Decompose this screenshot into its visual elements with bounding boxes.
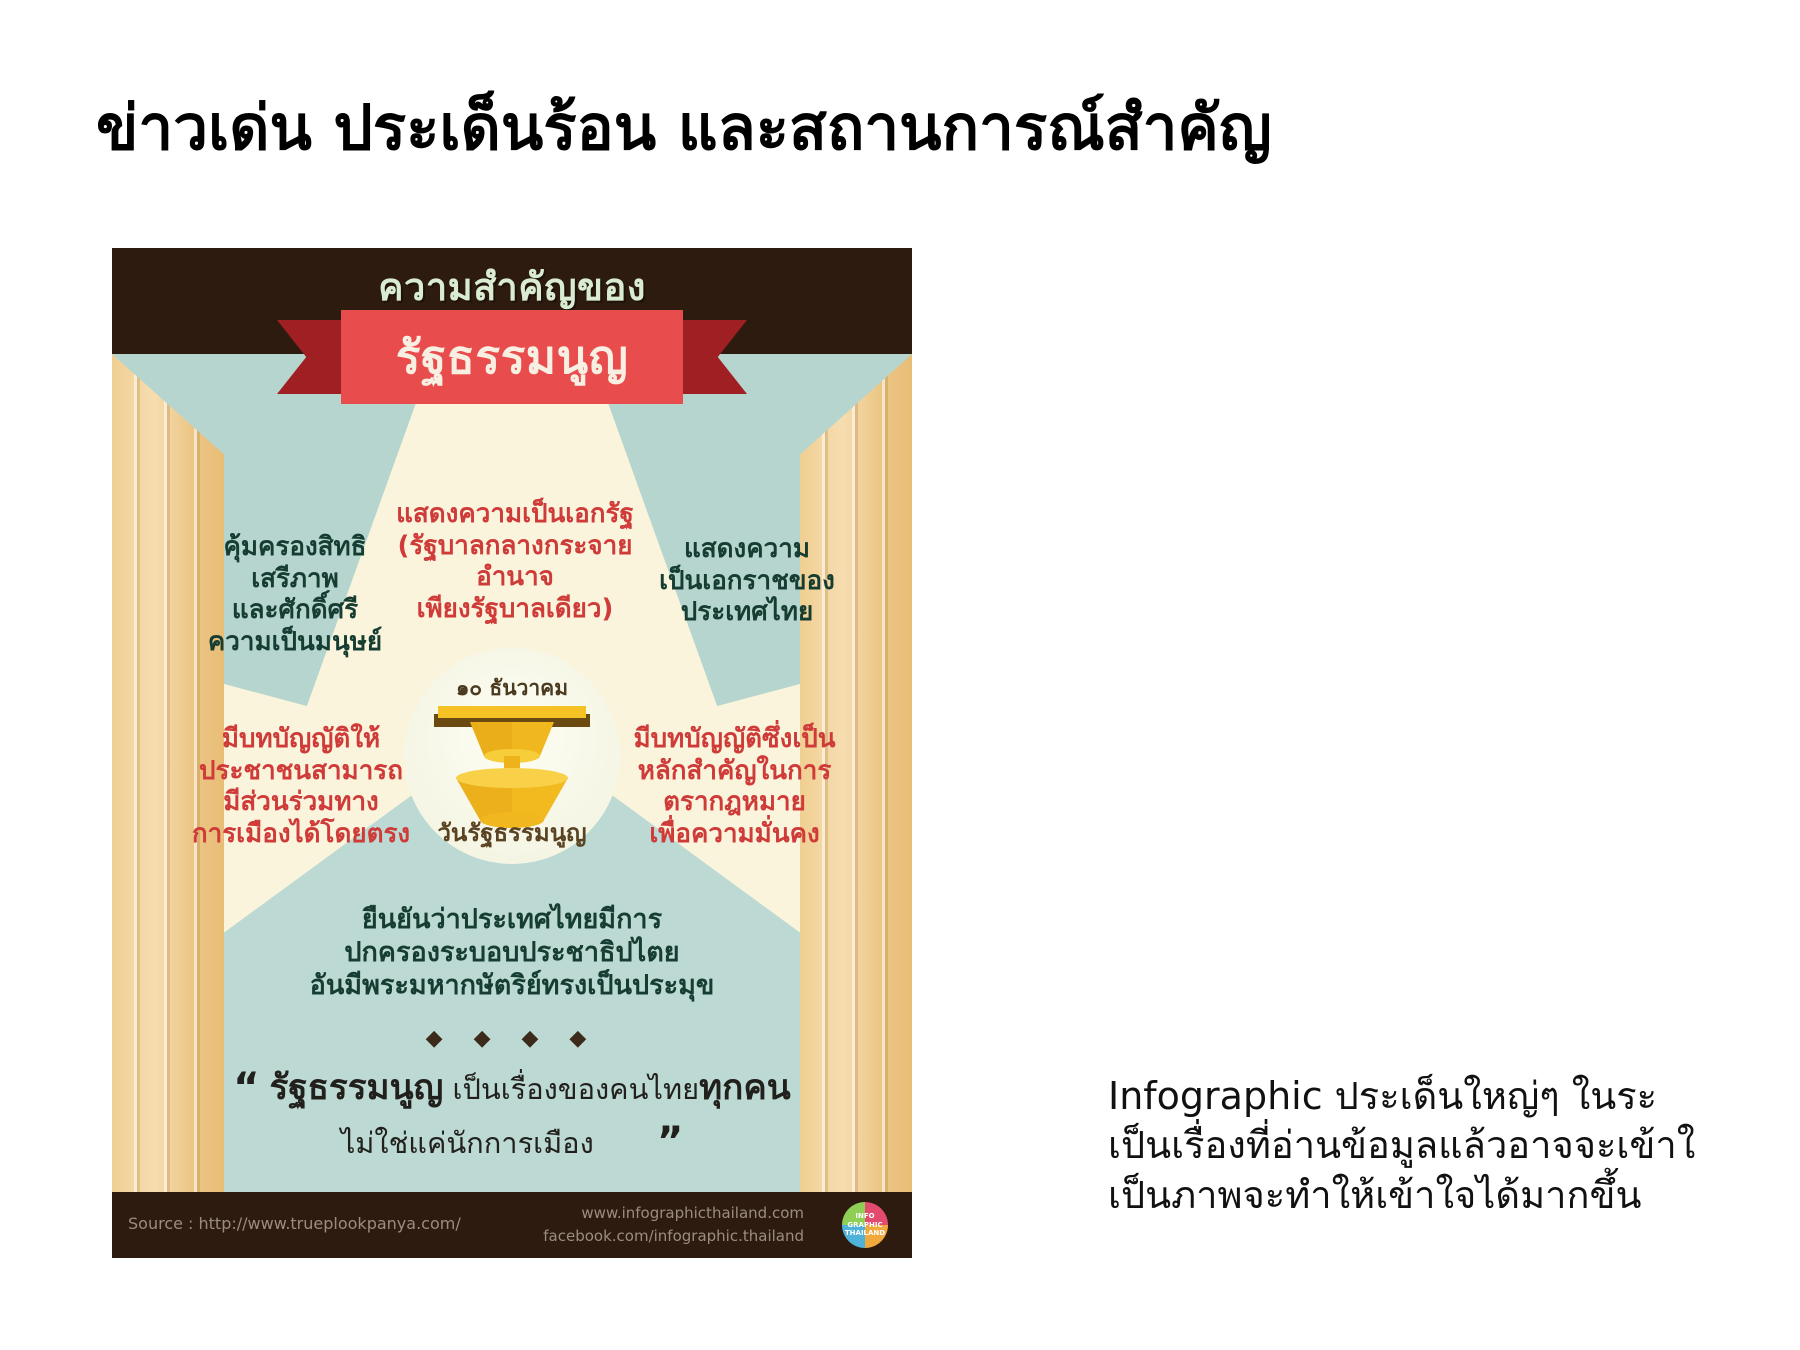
infographic-footer: Source : http://www.trueplookpanya.com/ …	[112, 1192, 912, 1258]
text-block-rights-freedom: คุ้มครองสิทธิ เสรีภาพ และศักดิ์ศรี ความเ…	[190, 532, 400, 659]
ribbon-title: รัฐธรรมนูญ	[396, 321, 629, 394]
quote-block: “ รัฐธรรมนูญ เป็นเรื่องของคนไทยทุกคน ไม่…	[182, 1060, 842, 1166]
quote-line-2: ไม่ใช่แค่นักการเมือง ”	[182, 1119, 842, 1166]
infographic-header-title: ความสำคัญของ	[112, 256, 912, 317]
badge-line-2: GRAPHIC	[847, 1221, 882, 1230]
infographic-body: คุ้มครองสิทธิ เสรีภาพ และศักดิ์ศรี ความเ…	[112, 354, 912, 1192]
footer-source-text: Source : http://www.trueplookpanya.com/	[128, 1214, 461, 1233]
text-block-lawmaking: มีบทบัญญัติซึ่งเป็น หลักสำคัญในการ ตรากฎ…	[617, 724, 852, 851]
text-block-participation: มีบทบัญญัติให้ ประชาชนสามารถ มีส่วนร่วมท…	[186, 724, 416, 851]
emblem-arc-label: วันรัฐธรรมนูญ	[404, 813, 620, 852]
emblem-date-label: ๑๐ ธันวาคม	[404, 672, 620, 705]
page-title: ข่าวเด่น ประเด็นร้อน และสถานการณ์สำคัญ	[96, 92, 1716, 163]
footer-links: www.infographicthailand.com facebook.com…	[543, 1202, 804, 1247]
footer-website-link[interactable]: www.infographicthailand.com	[543, 1202, 804, 1225]
footer-facebook-link[interactable]: facebook.com/infographic.thailand	[543, 1225, 804, 1248]
quote-keyword: รัฐธรรมนูญ	[269, 1068, 443, 1108]
text-block-unitary-state: แสดงความเป็นเอกรัฐ (รัฐบาลกลางกระจายอำนา…	[380, 499, 650, 626]
side-caption-line-2: เป็นเรื่องที่อ่านข้อมูลแล้วอาจจะเข้าใ	[1108, 1121, 1800, 1170]
quote-line-1: “ รัฐธรรมนูญ เป็นเรื่องของคนไทยทุกคน	[182, 1060, 842, 1115]
quote-close-mark: ”	[657, 1119, 683, 1165]
side-caption-line-3: เป็นภาพจะทำให้เข้าใจได้มากขึ้น	[1108, 1171, 1800, 1220]
ribbon-banner: รัฐธรรมนูญ	[277, 310, 747, 408]
diamond-divider: ◆ ◆ ◆ ◆	[112, 1026, 912, 1051]
side-caption-text: Infographic ประเด็นใหญ่ๆ ในระ เป็นเรื่อง…	[1108, 1072, 1800, 1220]
side-caption-line-1: Infographic ประเด็นใหญ่ๆ ในระ	[1108, 1072, 1800, 1121]
center-emblem: ๑๐ ธันวาคม วันรัฐธรรมนูญ	[404, 648, 620, 864]
quote-line-2-text: ไม่ใช่แค่นักการเมือง	[341, 1126, 594, 1160]
badge-line-1: INFO	[855, 1212, 874, 1221]
infographic-thailand-logo: INFO GRAPHIC THAILAND	[842, 1202, 888, 1248]
badge-line-3: THAILAND	[845, 1229, 885, 1238]
quote-text-regular: เป็นเรื่องของคนไทย	[443, 1072, 699, 1106]
infographic-image: ความสำคัญของ รัฐธรรมนูญ	[112, 248, 912, 1258]
quote-emphasis: ทุกคน	[699, 1068, 791, 1108]
text-block-independence: แสดงความ เป็นเอกราชของ ประเทศไทย	[642, 534, 852, 629]
ribbon-main: รัฐธรรมนูญ	[341, 310, 683, 404]
text-block-democracy: ยืนยันว่าประเทศไทยมีการ ปกครองระบอบประชา…	[272, 904, 752, 1003]
quote-open-mark: “	[233, 1065, 259, 1111]
